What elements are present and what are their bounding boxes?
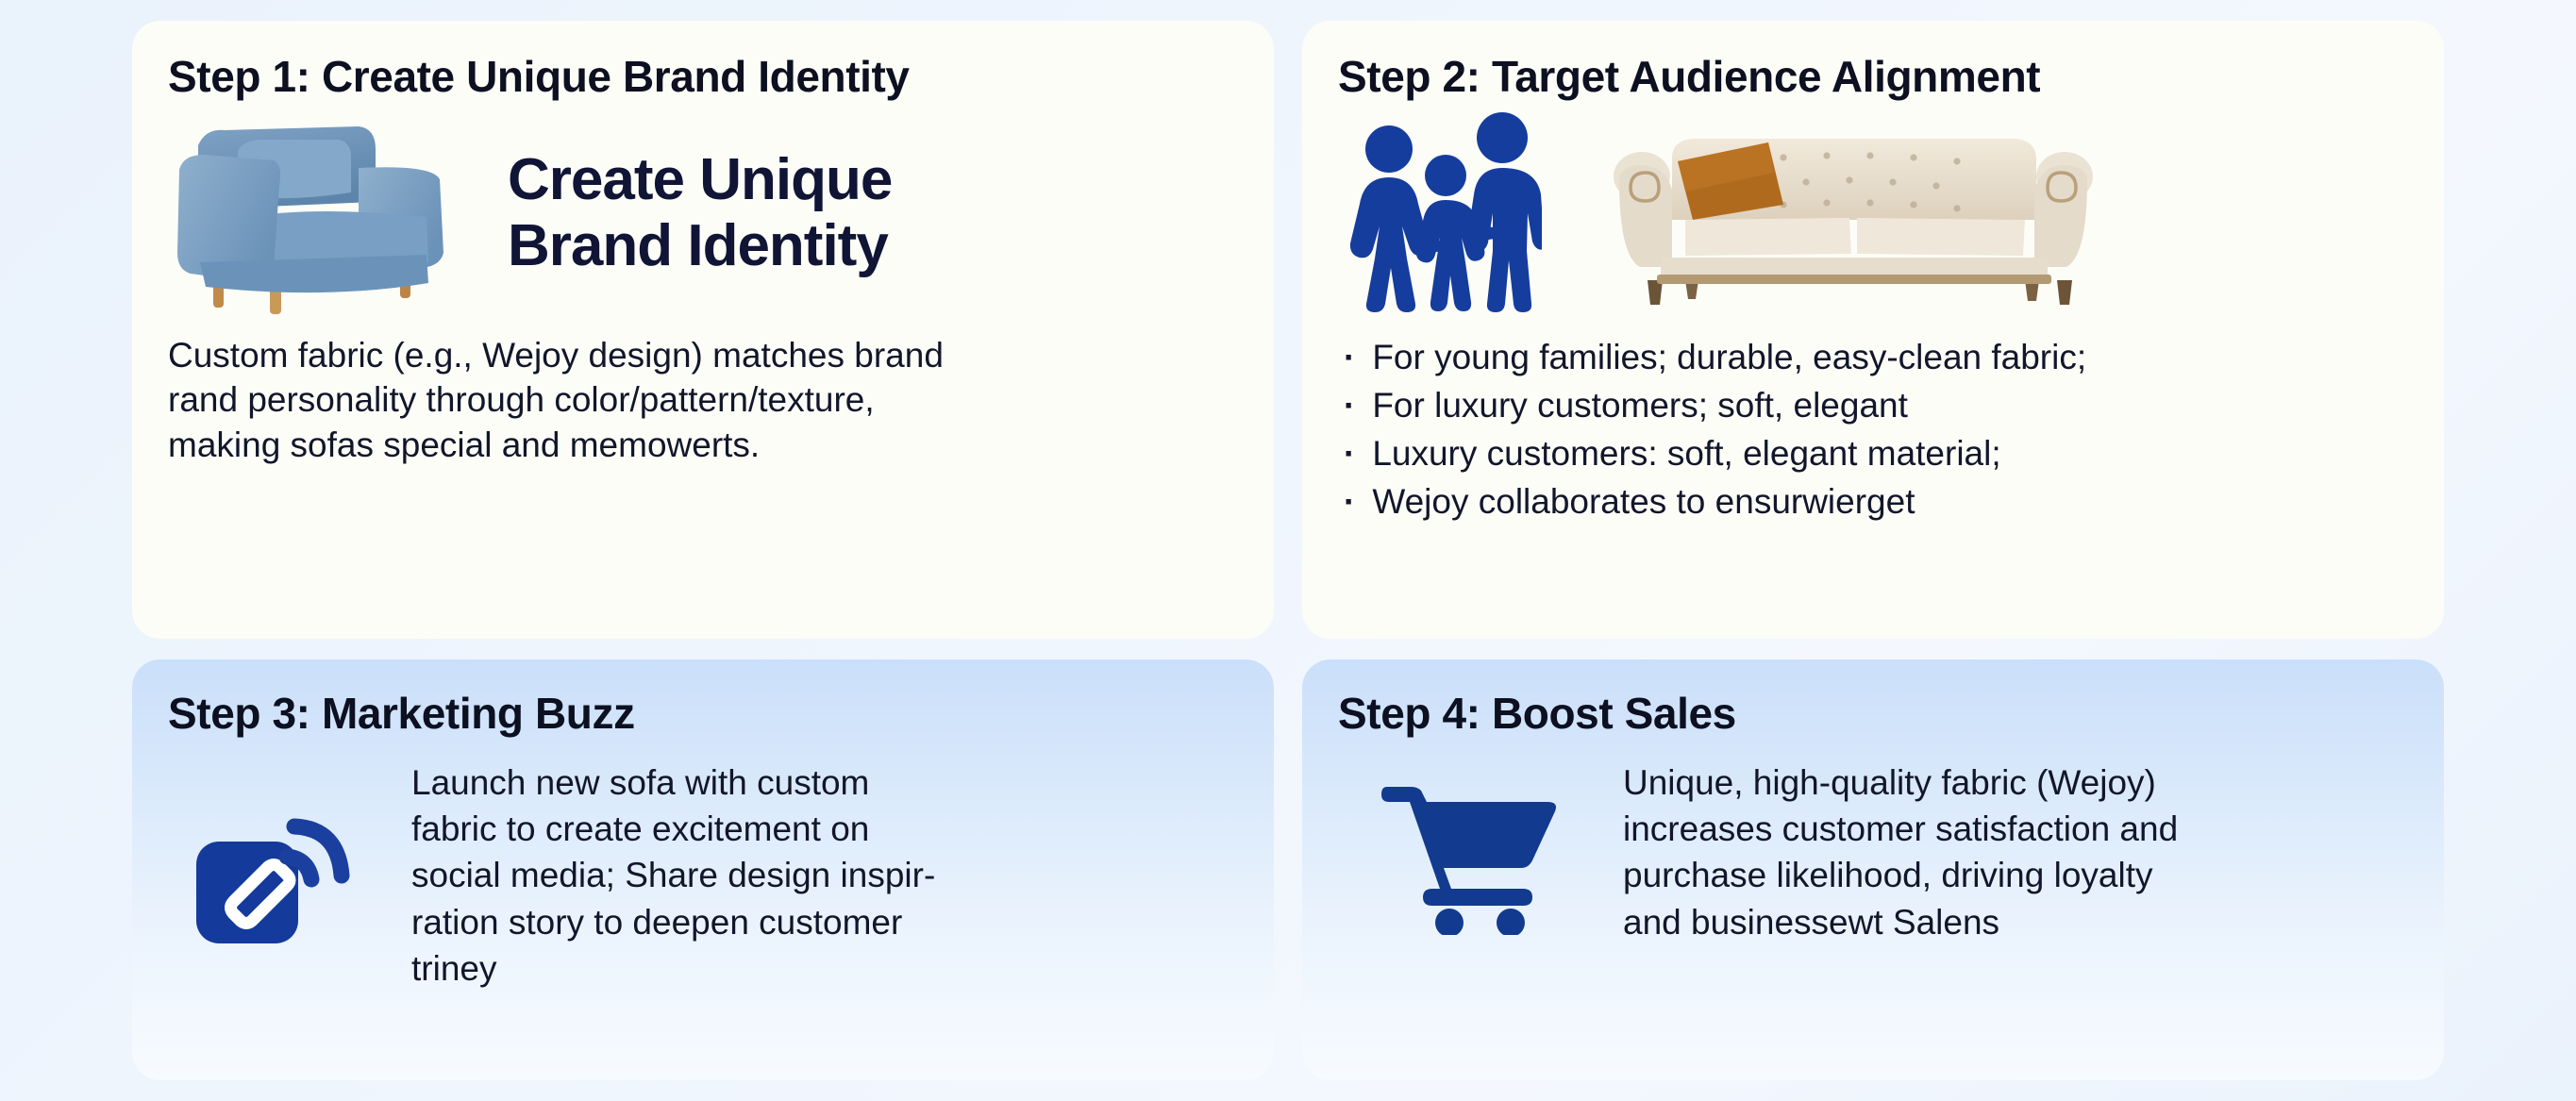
card-step-2-bullets: For young families; durable, easy-clean … [1302,312,2444,525]
steps-grid: Step 1: Create Unique Brand Identity [0,0,2576,1101]
card-step-3: Step 3: Marketing Buzz Launch new sofa w… [132,659,1274,1080]
card-step-3-body: Launch new sofa with custom fabric to cr… [411,759,935,992]
card-step-4-title: Step 4: Boost Sales [1302,659,2444,739]
card-step-4-body: Unique, high-quality fabric (Wejoy) incr… [1623,759,2178,945]
shopping-cart-icon [1374,770,1563,935]
body-line: Launch new sofa with custom [411,759,935,806]
body-line: rand personality through color/pattern/t… [168,377,1236,422]
card-step-2: Step 2: Target Audience Alignment [1302,21,2444,639]
card-step-1-title: Step 1: Create Unique Brand Identity [132,21,1274,102]
body-line: and businessewt Salens [1623,899,2178,945]
body-line: fabric to create excitement on [411,806,935,852]
card-step-2-title: Step 2: Target Audience Alignment [1302,21,2444,102]
card-step-1-headline: Create Unique Brand Identity [508,147,892,278]
body-line: Unique, high-quality fabric (Wejoy) [1623,759,2178,806]
chesterfield-sofa-icon [1598,114,2108,308]
headline-line-2: Brand Identity [508,213,892,278]
tag-broadcast-icon [189,800,368,951]
card-step-4-content-row: Unique, high-quality fabric (Wejoy) incr… [1302,739,2444,945]
body-line: social media; Share design inspir- [411,852,935,898]
body-line: Custom fabric (e.g., Wejoy design) match… [168,333,1236,377]
bullet-item: For luxury customers; soft, elegant [1344,381,2444,429]
body-line: making sofas special and memowerts. [168,423,1236,467]
bullet-item: For young families; durable, easy-clean … [1344,333,2444,381]
body-line: increases customer satisfaction and [1623,806,2178,852]
body-line: ration story to deepen customer [411,899,935,945]
card-step-3-title: Step 3: Marketing Buzz [132,659,1274,739]
card-step-1: Step 1: Create Unique Brand Identity [132,21,1274,639]
card-step-4: Step 4: Boost Sales Unique, high-quality… [1302,659,2444,1080]
card-step-1-body: Custom fabric (e.g., Wejoy design) match… [132,314,1274,467]
bullet-item: Luxury customers: soft, elegant material… [1344,429,2444,477]
card-step-2-header-row [1302,102,2444,312]
body-line: triney [411,945,935,992]
family-icon [1344,109,1542,312]
headline-line-1: Create Unique [508,147,892,212]
card-step-1-header-row: Create Unique Brand Identity [132,102,1274,314]
body-line: purchase likelihood, driving loyalty [1623,852,2178,898]
bullet-item: Wejoy collaborates to ensurwierget [1344,477,2444,525]
armchair-icon [157,111,468,314]
card-step-3-content-row: Launch new sofa with custom fabric to cr… [132,739,1274,992]
